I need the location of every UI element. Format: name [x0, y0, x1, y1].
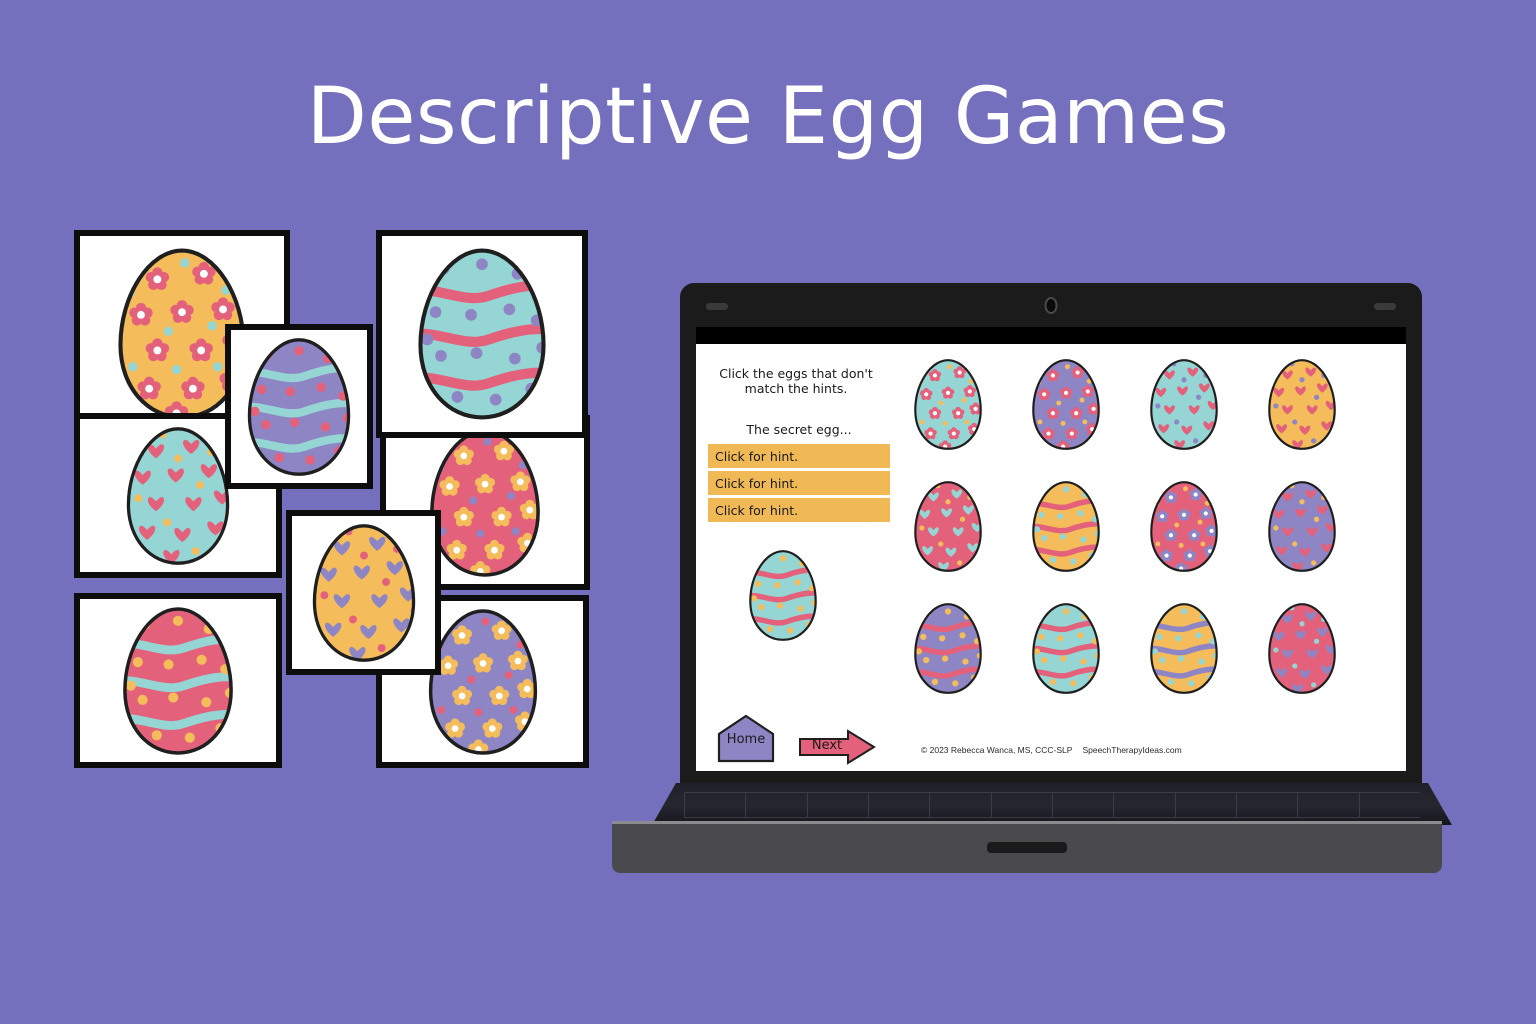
- keyboard-key: [991, 793, 1052, 818]
- secret-egg[interactable]: [746, 549, 820, 642]
- grid-egg-12[interactable]: [1265, 602, 1339, 695]
- grid-egg-4[interactable]: [1265, 358, 1339, 451]
- card-purple-teal-stripes[interactable]: [225, 324, 373, 489]
- grid-egg-5[interactable]: [911, 480, 985, 573]
- copyright-text: © 2023 Rebecca Wanca, MS, CCC-SLP: [921, 745, 1072, 755]
- keyboard-key: [1052, 793, 1113, 818]
- instruction-text: Click the eggs that don't match the hint…: [701, 366, 891, 397]
- laptop-screen: Click the eggs that don't match the hint…: [696, 327, 1406, 771]
- egg-illustration: [243, 336, 356, 477]
- home-button[interactable]: Home: [716, 714, 776, 764]
- keyboard-key: [1236, 793, 1297, 818]
- card-pink-teal-stripes[interactable]: [74, 593, 282, 768]
- keyboard-key: [868, 793, 929, 818]
- webcam-icon: [1045, 297, 1058, 314]
- keyboard-key: [1359, 793, 1420, 818]
- keyboard-key: [684, 793, 745, 818]
- keyboard-key: [929, 793, 990, 818]
- page-title: Descriptive Egg Games: [0, 78, 1536, 156]
- keyboard-key: [1297, 793, 1358, 818]
- keyboard-key: [807, 793, 868, 818]
- grid-egg-1[interactable]: [911, 358, 985, 451]
- copyright-notice: © 2023 Rebecca Wanca, MS, CCC-SLPSpeechT…: [921, 745, 1381, 755]
- egg-illustration: [122, 425, 235, 566]
- laptop-bezel: [680, 283, 1422, 327]
- speaker-slot-left-icon: [706, 303, 728, 310]
- card-orange-purple-hearts[interactable]: [286, 510, 441, 675]
- grid-egg-3[interactable]: [1147, 358, 1221, 451]
- laptop-keyboard-deck: [652, 783, 1452, 825]
- card-collage: [60, 225, 605, 925]
- keyboard-key: [1113, 793, 1174, 818]
- next-button-label: Next: [802, 738, 852, 753]
- laptop-base: [612, 821, 1442, 873]
- hint-button-1[interactable]: Click for hint.: [708, 444, 890, 468]
- hint-button-3[interactable]: Click for hint.: [708, 498, 890, 522]
- grid-egg-6[interactable]: [1029, 480, 1103, 573]
- speaker-slot-right-icon: [1374, 303, 1396, 310]
- hint-button-2[interactable]: Click for hint.: [708, 471, 890, 495]
- grid-egg-9[interactable]: [911, 602, 985, 695]
- egg-illustration: [307, 522, 420, 663]
- grid-egg-2[interactable]: [1029, 358, 1103, 451]
- grid-egg-7[interactable]: [1147, 480, 1221, 573]
- home-button-label: Home: [716, 732, 776, 747]
- website-link[interactable]: SpeechTherapyIdeas.com: [1082, 745, 1181, 755]
- secret-egg-label: The secret egg...: [708, 422, 890, 437]
- laptop-mockup: Click the eggs that don't match the hint…: [612, 283, 1442, 863]
- hint-button-list: Click for hint.Click for hint.Click for …: [708, 444, 890, 525]
- presentation-slide: Click the eggs that don't match the hint…: [696, 344, 1406, 771]
- keyboard-key: [1175, 793, 1236, 818]
- egg-grid: [911, 358, 1401, 736]
- grid-egg-8[interactable]: [1265, 480, 1339, 573]
- egg-illustration: [118, 605, 239, 756]
- laptop-front-notch-icon: [987, 842, 1067, 853]
- grid-egg-10[interactable]: [1029, 602, 1103, 695]
- next-button[interactable]: Next: [798, 729, 876, 765]
- egg-illustration: [412, 247, 552, 422]
- grid-egg-11[interactable]: [1147, 602, 1221, 695]
- laptop-lid: Click the eggs that don't match the hint…: [680, 283, 1422, 788]
- keyboard-keys: [684, 792, 1420, 818]
- egg-illustration: [425, 427, 546, 578]
- keyboard-key: [745, 793, 806, 818]
- screen-topbar: [696, 327, 1406, 344]
- card-teal-stripes-purple-dots[interactable]: [376, 230, 588, 438]
